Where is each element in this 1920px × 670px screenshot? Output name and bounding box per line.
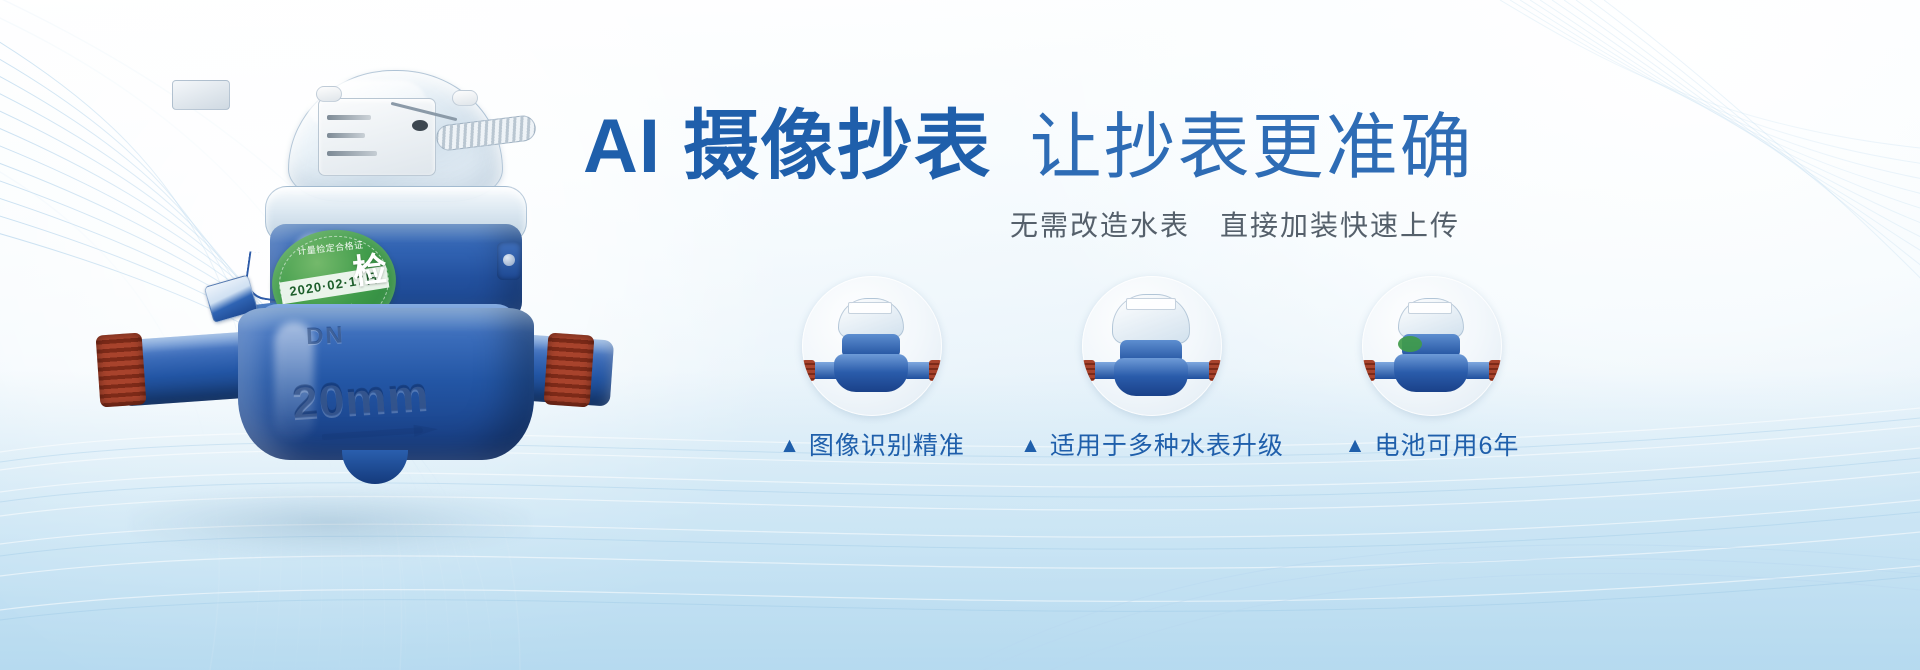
mini-outlet-thread xyxy=(1489,360,1502,381)
mini-meter-body xyxy=(834,354,908,392)
feature-thumbnail xyxy=(1362,276,1502,416)
mini-outlet-thread xyxy=(1209,360,1222,381)
feature-item-battery-life[interactable]: ▲电池可用6年 xyxy=(1362,276,1502,416)
feature-caption: ▲电池可用6年 xyxy=(1284,426,1580,462)
sticker-jian-char: 检 xyxy=(351,252,388,289)
mini-register-label xyxy=(848,302,892,314)
mini-inlet-thread xyxy=(1082,360,1095,381)
mini-outlet-thread xyxy=(929,360,942,381)
headline-secondary: 让抄表更准确 xyxy=(1030,108,1474,188)
banner-subheadline: 无需改造水表 直接加装快速上传 xyxy=(1010,204,1870,244)
camera-module xyxy=(172,80,230,110)
triangle-marker-icon: ▲ xyxy=(779,434,801,458)
feature-caption: ▲适用于多种水表升级 xyxy=(1004,426,1300,462)
meter-foot xyxy=(342,450,408,484)
hero-product-image: 计量检定合格证 2020·02·17日 检 检定合格 市质量技术监督检测院 DN… xyxy=(60,58,580,558)
feature-caption: ▲图像识别精准 xyxy=(724,426,1020,462)
mini-inlet-thread xyxy=(1362,360,1375,381)
register-nub-right xyxy=(452,90,478,106)
mini-inspection-sticker xyxy=(1398,336,1422,352)
mini-meter-body xyxy=(1394,354,1468,392)
product-shadow xyxy=(130,488,530,558)
feature-caption-text: 图像识别精准 xyxy=(809,432,965,460)
mini-register-label xyxy=(1408,302,1452,314)
feature-thumbnail xyxy=(1082,276,1222,416)
camera-lens xyxy=(412,120,428,131)
feature-caption-text: 电池可用6年 xyxy=(1374,432,1519,460)
mini-inlet-thread xyxy=(802,360,815,381)
mini-meter-body xyxy=(1114,358,1188,396)
collar-screw xyxy=(497,242,521,280)
feature-thumbnail xyxy=(802,276,942,416)
feature-caption-text: 适用于多种水表升级 xyxy=(1050,432,1284,460)
outlet-thread-connector xyxy=(544,332,595,407)
banner-headline: AI 摄像抄表 让抄表更准确 xyxy=(583,104,1863,190)
ai-meter-reading-banner: 计量检定合格证 2020·02·17日 检 检定合格 市质量技术监督检测院 DN… xyxy=(0,0,1920,670)
feature-item-multi-meter-upgrade[interactable]: ▲适用于多种水表升级 xyxy=(1082,276,1222,416)
register-nub-left xyxy=(316,86,342,102)
headline-primary: AI 摄像抄表 xyxy=(583,104,991,189)
triangle-marker-icon: ▲ xyxy=(1020,434,1042,458)
inlet-thread-connector xyxy=(96,332,147,407)
mini-register-label xyxy=(1126,298,1176,310)
feature-item-image-recognition[interactable]: ▲图像识别精准 xyxy=(802,276,942,416)
triangle-marker-icon: ▲ xyxy=(1345,434,1367,458)
feature-list: ▲图像识别精准 ▲适用于多种水表升级 xyxy=(760,276,1880,476)
